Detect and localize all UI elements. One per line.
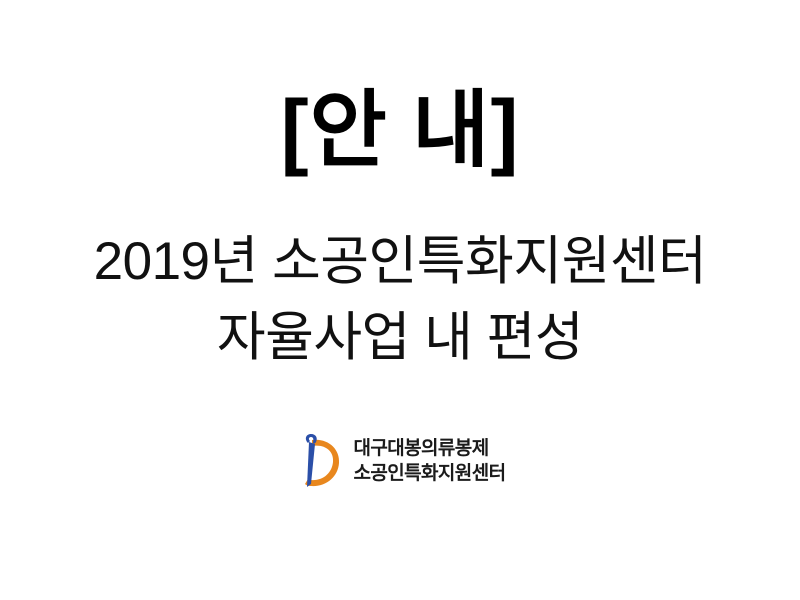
- logo-name-line-1: 대구대봉의류봉제: [354, 437, 506, 460]
- subtitle-line-1: 2019년 소공인특화지원센터: [0, 224, 800, 300]
- announcement-slide: [안 내] 2019년 소공인특화지원센터 자율사업 내 편성 대구대봉의류봉제…: [0, 0, 800, 600]
- logo-wordmark: 대구대봉의류봉제 소공인특화지원센터: [354, 437, 506, 485]
- subtitle-block: 2019년 소공인특화지원센터 자율사업 내 편성: [0, 224, 800, 376]
- subtitle-line-2: 자율사업 내 편성: [0, 300, 800, 376]
- organization-logo: 대구대봉의류봉제 소공인특화지원센터: [0, 432, 800, 490]
- logo-name-line-2: 소공인특화지원센터: [354, 462, 506, 485]
- needle-and-thread-d-icon: [295, 432, 343, 490]
- page-title: [안 내]: [0, 82, 800, 178]
